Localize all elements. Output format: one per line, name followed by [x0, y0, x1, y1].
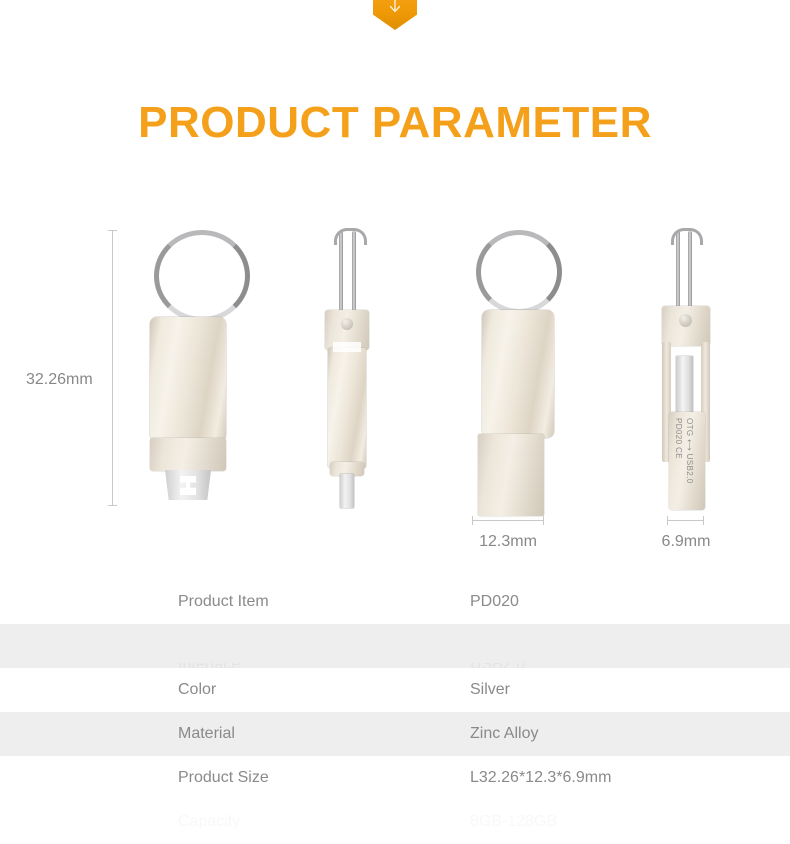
spec-label: Product Item: [178, 593, 269, 611]
spec-value: L32.26*12.3*6.9mm: [470, 769, 611, 787]
table-row: Product Size L32.26*12.3*6.9mm: [0, 756, 790, 800]
keyring-highlight: [160, 236, 244, 316]
keyring-open-arc: [671, 228, 703, 245]
thickness-dimension-label: 6.9mm: [648, 533, 724, 551]
spec-label: Color: [178, 681, 216, 699]
top-badge-bar: [0, 0, 790, 34]
drive-body: [150, 317, 226, 442]
connector-edge: [340, 474, 354, 508]
swivel-pivot-open: [679, 314, 692, 327]
specification-table: Product Item PD020 Interface USB2.0 Colo…: [0, 580, 790, 844]
spec-label: Product Size: [178, 769, 269, 787]
spec-label: Material: [178, 725, 235, 743]
spec-value: 8GB-128GB: [470, 813, 557, 831]
engraving-line-1: OTG ⟷ USB2.0: [685, 418, 694, 484]
table-row: Material Zinc Alloy: [0, 712, 790, 756]
table-row: Color Silver: [0, 668, 790, 712]
engraving-line-2: PD020 CE: [674, 418, 683, 459]
drive-body-edge: [328, 348, 366, 468]
spec-value: Silver: [470, 681, 510, 699]
keyring-side-arc: [334, 228, 367, 245]
width-dimension-line: [472, 520, 544, 521]
down-arrow-icon: [386, 0, 404, 16]
drive-collar: [150, 438, 226, 471]
spec-value: PD020: [470, 593, 519, 611]
height-dimension-label: 32.26mm: [26, 371, 93, 389]
usb-a-connector: [676, 356, 693, 414]
spec-label: Capacity: [178, 813, 240, 831]
keyring-highlight-back: [482, 236, 556, 308]
spec-value: Zinc Alloy: [470, 725, 538, 743]
thickness-dimension-line: [667, 520, 704, 521]
down-arrow-badge: [373, 0, 417, 30]
width-dimension-label: 12.3mm: [440, 533, 576, 551]
drive-shell-back: [478, 434, 544, 516]
table-row: Interface USB2.0: [0, 624, 790, 668]
edge-highlight: [333, 342, 361, 352]
drive-body-back: [482, 310, 554, 438]
height-dimension-line: [112, 230, 113, 506]
page-title: PRODUCT PARAMETER: [0, 98, 790, 148]
swivel-pivot: [341, 318, 353, 330]
table-row: Capacity 8GB-128GB: [0, 800, 790, 844]
table-row: Product Item PD020: [0, 580, 790, 624]
